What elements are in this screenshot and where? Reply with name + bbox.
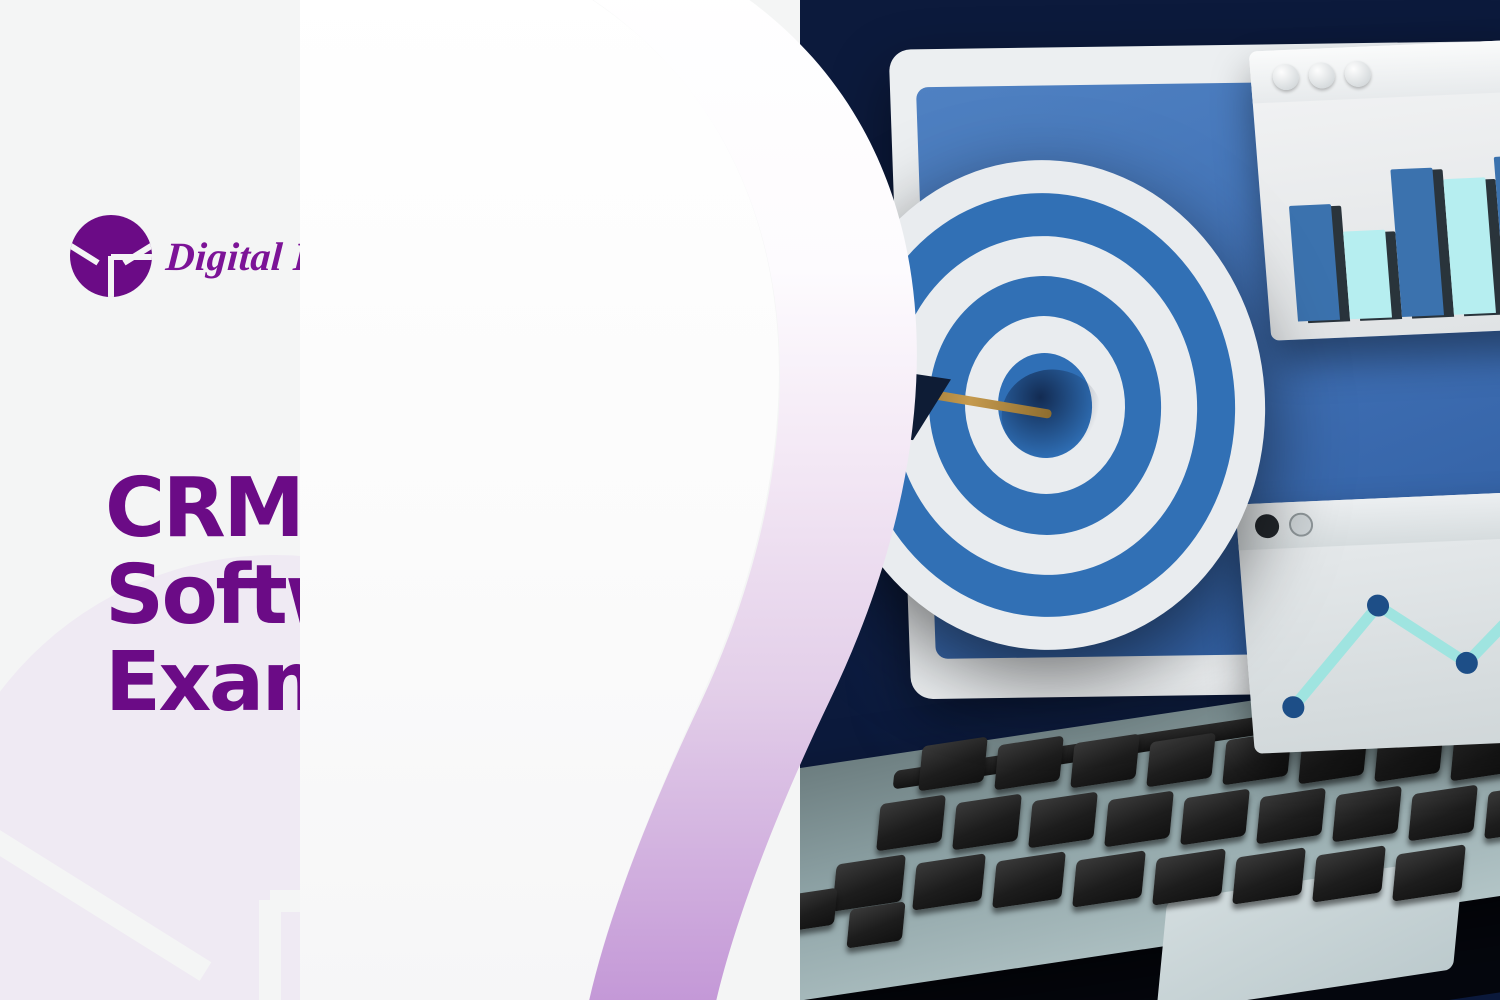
poster-canvas: Digital Products CRM Software Examples bbox=[0, 0, 1500, 1000]
line-chart-plot bbox=[1239, 532, 1500, 754]
watermark-divider bbox=[0, 697, 211, 981]
keyboard-key bbox=[1146, 732, 1216, 787]
page-title: CRM Software Examples bbox=[105, 466, 665, 727]
keyboard-key bbox=[952, 793, 1022, 850]
logo-divider bbox=[70, 227, 100, 265]
dartboard-target bbox=[808, 145, 1281, 664]
line-chart-segment bbox=[1286, 606, 1386, 708]
keyboard-key bbox=[1408, 784, 1478, 841]
window-dot-icon bbox=[1288, 512, 1314, 537]
bar-chart-bar bbox=[1390, 168, 1444, 317]
line-chart-svg bbox=[1239, 532, 1500, 754]
keyboard-key bbox=[1312, 845, 1386, 903]
logo-divider bbox=[111, 254, 152, 260]
keyboard-key bbox=[1484, 783, 1500, 840]
page-title-line-2: Examples bbox=[105, 640, 665, 727]
pie-chart-logo-icon bbox=[70, 215, 152, 297]
logo-divider bbox=[108, 256, 114, 297]
keyboard-key bbox=[918, 737, 988, 792]
keyboard-key bbox=[994, 735, 1064, 790]
keyboard-key bbox=[1070, 734, 1140, 789]
keyboard-key bbox=[1180, 789, 1250, 846]
dartboard-illustration bbox=[825, 160, 1265, 650]
keyboard-key bbox=[1256, 787, 1326, 844]
bar-chart-window-card bbox=[1249, 33, 1500, 340]
watermark-divider bbox=[259, 900, 281, 1000]
dart-icon bbox=[831, 342, 1089, 479]
bar-chart-bar bbox=[1494, 155, 1500, 312]
page-title-line-1: CRM Software bbox=[105, 466, 665, 640]
bar-chart-bars bbox=[1282, 106, 1500, 322]
keyboard-key bbox=[1152, 848, 1226, 906]
keyboard-key bbox=[1332, 786, 1402, 843]
window-dot-icon bbox=[1344, 60, 1372, 87]
keyboard-key bbox=[1028, 792, 1098, 849]
keyboard-key bbox=[846, 901, 905, 948]
keyboard-key bbox=[876, 795, 946, 852]
window-dot-icon bbox=[1272, 63, 1300, 90]
keyboard-key bbox=[1072, 850, 1146, 908]
keyboard-key bbox=[1392, 844, 1466, 902]
brand-name: Digital Products bbox=[164, 233, 445, 280]
bar-chart-bar bbox=[1289, 204, 1340, 321]
dart-body bbox=[863, 372, 955, 444]
keyboard-key bbox=[912, 853, 986, 911]
line-chart-segment bbox=[1461, 582, 1500, 663]
line-chart-window-card bbox=[1235, 486, 1500, 754]
bar-chart-bar bbox=[1443, 177, 1496, 314]
keyboard-key bbox=[1232, 847, 1306, 905]
line-chart-segment bbox=[1378, 602, 1467, 667]
bar-chart-bar bbox=[1343, 230, 1392, 320]
window-dot-icon bbox=[1308, 62, 1336, 89]
watermark-divider bbox=[270, 890, 620, 912]
watermark-divider bbox=[329, 697, 620, 981]
keyboard-key bbox=[992, 851, 1066, 909]
text-panel: Digital Products CRM Software Examples bbox=[0, 0, 800, 1000]
brand-logo[interactable]: Digital Products bbox=[70, 215, 444, 297]
keyboard-key bbox=[1104, 790, 1174, 847]
